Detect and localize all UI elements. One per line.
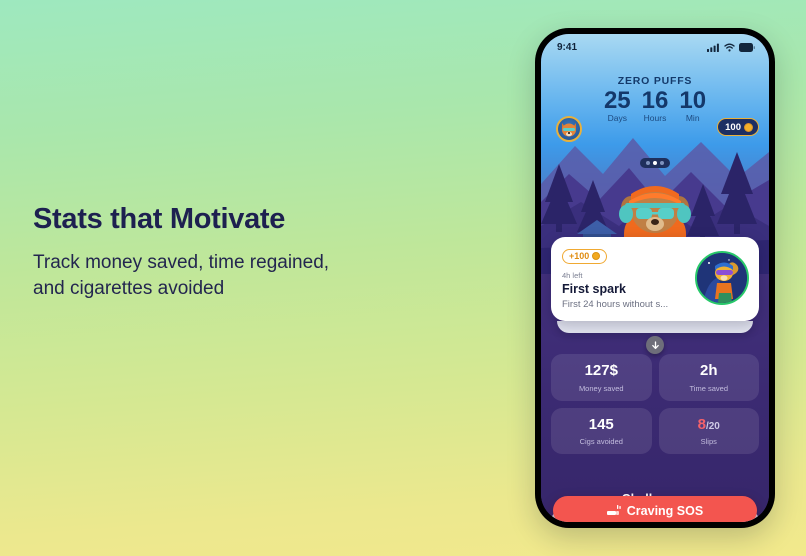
stat-card-money-saved[interactable]: 127$ Money saved: [551, 354, 652, 401]
stat-card-cigs-avoided[interactable]: 145 Cigs avoided: [551, 408, 652, 455]
stat-money-value: 127$: [555, 363, 648, 380]
coin-icon: [744, 123, 753, 132]
stat-slips-total: /20: [706, 421, 720, 432]
achievement-card[interactable]: +100 4h left First spark First 24 hours …: [551, 237, 759, 321]
counter-min: 10 Min: [679, 88, 706, 123]
counter-days: 25 Days: [604, 88, 631, 123]
stat-slips-value: 8/20: [663, 417, 756, 434]
stats-grid: 127$ Money saved 2h Time saved 145 Cigs …: [551, 354, 759, 454]
stat-cigs-value: 145: [555, 417, 648, 434]
stat-money-label: Money saved: [555, 384, 648, 393]
page-dot-2[interactable]: [653, 161, 657, 165]
coin-icon: [592, 252, 600, 260]
coin-balance-value: 100: [725, 122, 741, 133]
status-bar: 9:41: [541, 34, 769, 56]
stat-card-slips[interactable]: 8/20 Slips: [659, 408, 760, 455]
fox-avatar[interactable]: [556, 116, 582, 142]
stat-card-time-saved[interactable]: 2h Time saved: [659, 354, 760, 401]
achievement-badge-image: [695, 251, 749, 305]
page-dots-indicator[interactable]: [640, 158, 670, 168]
signal-icon: [707, 43, 720, 52]
wifi-icon: [724, 43, 735, 52]
marketing-copy: Stats that Motivate Track money saved, t…: [33, 203, 363, 301]
squirrel-badge-icon: [697, 253, 747, 303]
stat-slips-count: 8: [698, 416, 706, 433]
phone-mockup: ZERO PUFFS 25 Days 16 Hours 10 Min: [535, 28, 775, 528]
status-bar-icons: [707, 43, 755, 52]
counter-min-value: 10: [679, 88, 706, 114]
coin-balance-badge[interactable]: 100: [717, 118, 759, 136]
craving-sos-button[interactable]: Craving SOS: [553, 496, 757, 522]
counter-hours: 16 Hours: [642, 88, 669, 123]
hero-title: ZERO PUFFS: [541, 75, 769, 87]
page-dot-3[interactable]: [660, 161, 664, 165]
achievement-reward-badge: +100: [562, 249, 607, 264]
page-subtitle: Track money saved, time regained, and ci…: [33, 250, 363, 301]
battery-icon: [739, 43, 755, 52]
counter-hours-label: Hours: [642, 113, 669, 123]
counter-days-value: 25: [604, 88, 631, 114]
stat-time-label: Time saved: [663, 384, 756, 393]
page-title: Stats that Motivate: [33, 203, 363, 236]
counter-days-label: Days: [604, 113, 631, 123]
stat-time-value: 2h: [663, 363, 756, 380]
phone-screen: ZERO PUFFS 25 Days 16 Hours 10 Min: [541, 34, 769, 522]
achievement-reward-value: +100: [569, 251, 589, 261]
status-bar-time: 9:41: [557, 42, 577, 53]
arrow-down-icon: [651, 341, 660, 350]
page-dot-1[interactable]: [646, 161, 650, 165]
expand-achievement-button[interactable]: [646, 336, 664, 354]
cigarette-icon: [607, 505, 621, 516]
stat-cigs-label: Cigs avoided: [555, 437, 648, 446]
stat-slips-label: Slips: [663, 437, 756, 446]
counter-hours-value: 16: [642, 88, 669, 114]
fox-avatar-icon: [558, 118, 580, 140]
craving-sos-label: Craving SOS: [627, 504, 703, 518]
counter-min-label: Min: [679, 113, 706, 123]
achievement-card-stack: [557, 321, 753, 333]
